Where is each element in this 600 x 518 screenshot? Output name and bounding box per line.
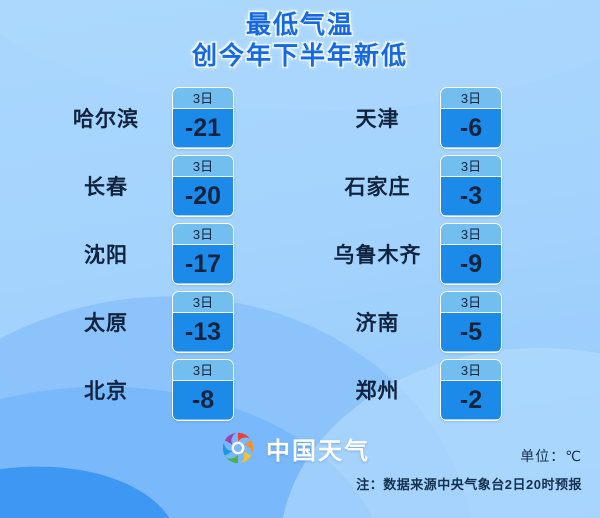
card-day-label: 3日 (441, 224, 501, 245)
city-row-jinan: 济南 3日 -5 (315, 290, 575, 354)
city-row-harbin: 哈尔滨 3日 -21 (40, 86, 300, 150)
title-line-2: 创今年下半年新低 (0, 41, 600, 72)
card-temperature-value: -8 (173, 381, 233, 419)
temperature-card: 3日 -3 (440, 155, 502, 217)
city-temperature-grid: 哈尔滨 3日 -21 长春 3日 -20 沈阳 3日 -17 (0, 86, 600, 426)
card-temperature-value: -13 (173, 313, 233, 351)
card-day-label: 3日 (173, 360, 233, 381)
city-label: 太原 (40, 307, 172, 337)
left-column: 哈尔滨 3日 -21 长春 3日 -20 沈阳 3日 -17 (40, 86, 300, 426)
card-day-label: 3日 (441, 360, 501, 381)
temperature-card: 3日 -17 (172, 223, 234, 285)
title-line-1: 最低气温 (0, 10, 600, 41)
page-title: 最低气温 创今年下半年新低 (0, 10, 600, 72)
temperature-card: 3日 -5 (440, 291, 502, 353)
card-day-label: 3日 (173, 156, 233, 177)
background-wave-bottom-left-dark (0, 449, 190, 518)
temperature-card: 3日 -9 (440, 223, 502, 285)
city-row-tianjin: 天津 3日 -6 (315, 86, 575, 150)
city-label: 沈阳 (40, 239, 172, 269)
city-row-beijing: 北京 3日 -8 (40, 358, 300, 422)
temperature-card: 3日 -21 (172, 87, 234, 149)
city-label: 长春 (40, 171, 172, 201)
weather-swirl-icon (218, 428, 258, 468)
weather-infographic: 最低气温 创今年下半年新低 哈尔滨 3日 -21 长春 3日 -20 沈阳 (0, 0, 600, 518)
card-temperature-value: -6 (441, 109, 501, 147)
card-temperature-value: -20 (173, 177, 233, 215)
city-row-zhengzhou: 郑州 3日 -2 (315, 358, 575, 422)
card-temperature-value: -9 (441, 245, 501, 283)
card-day-label: 3日 (441, 292, 501, 313)
city-label: 北京 (40, 375, 172, 405)
temperature-card: 3日 -13 (172, 291, 234, 353)
temperature-card: 3日 -20 (172, 155, 234, 217)
card-day-label: 3日 (441, 88, 501, 109)
city-label: 石家庄 (315, 171, 440, 201)
city-row-shijiazhuang: 石家庄 3日 -3 (315, 154, 575, 218)
temperature-card: 3日 -2 (440, 359, 502, 421)
brand-logo-text: 中国天气 (266, 431, 370, 466)
city-label: 济南 (315, 307, 440, 337)
card-temperature-value: -5 (441, 313, 501, 351)
unit-note: 单位：℃ (520, 446, 582, 466)
right-column: 天津 3日 -6 石家庄 3日 -3 乌鲁木齐 3日 -9 (315, 86, 575, 426)
card-temperature-value: -2 (441, 381, 501, 419)
temperature-card: 3日 -8 (172, 359, 234, 421)
city-label: 哈尔滨 (40, 103, 172, 133)
source-note: 注：数据来源中央气象台2日20时预报 (356, 474, 582, 493)
card-day-label: 3日 (173, 292, 233, 313)
card-day-label: 3日 (441, 156, 501, 177)
card-day-label: 3日 (173, 224, 233, 245)
city-label: 郑州 (315, 375, 440, 405)
card-temperature-value: -17 (173, 245, 233, 283)
city-row-changchun: 长春 3日 -20 (40, 154, 300, 218)
brand-logo: 中国天气 (218, 428, 370, 468)
card-temperature-value: -21 (173, 109, 233, 147)
city-row-taiyuan: 太原 3日 -13 (40, 290, 300, 354)
city-label: 天津 (315, 103, 440, 133)
city-row-shenyang: 沈阳 3日 -17 (40, 222, 300, 286)
city-label: 乌鲁木齐 (315, 239, 440, 269)
card-temperature-value: -3 (441, 177, 501, 215)
city-row-urumqi: 乌鲁木齐 3日 -9 (315, 222, 575, 286)
temperature-card: 3日 -6 (440, 87, 502, 149)
card-day-label: 3日 (173, 88, 233, 109)
